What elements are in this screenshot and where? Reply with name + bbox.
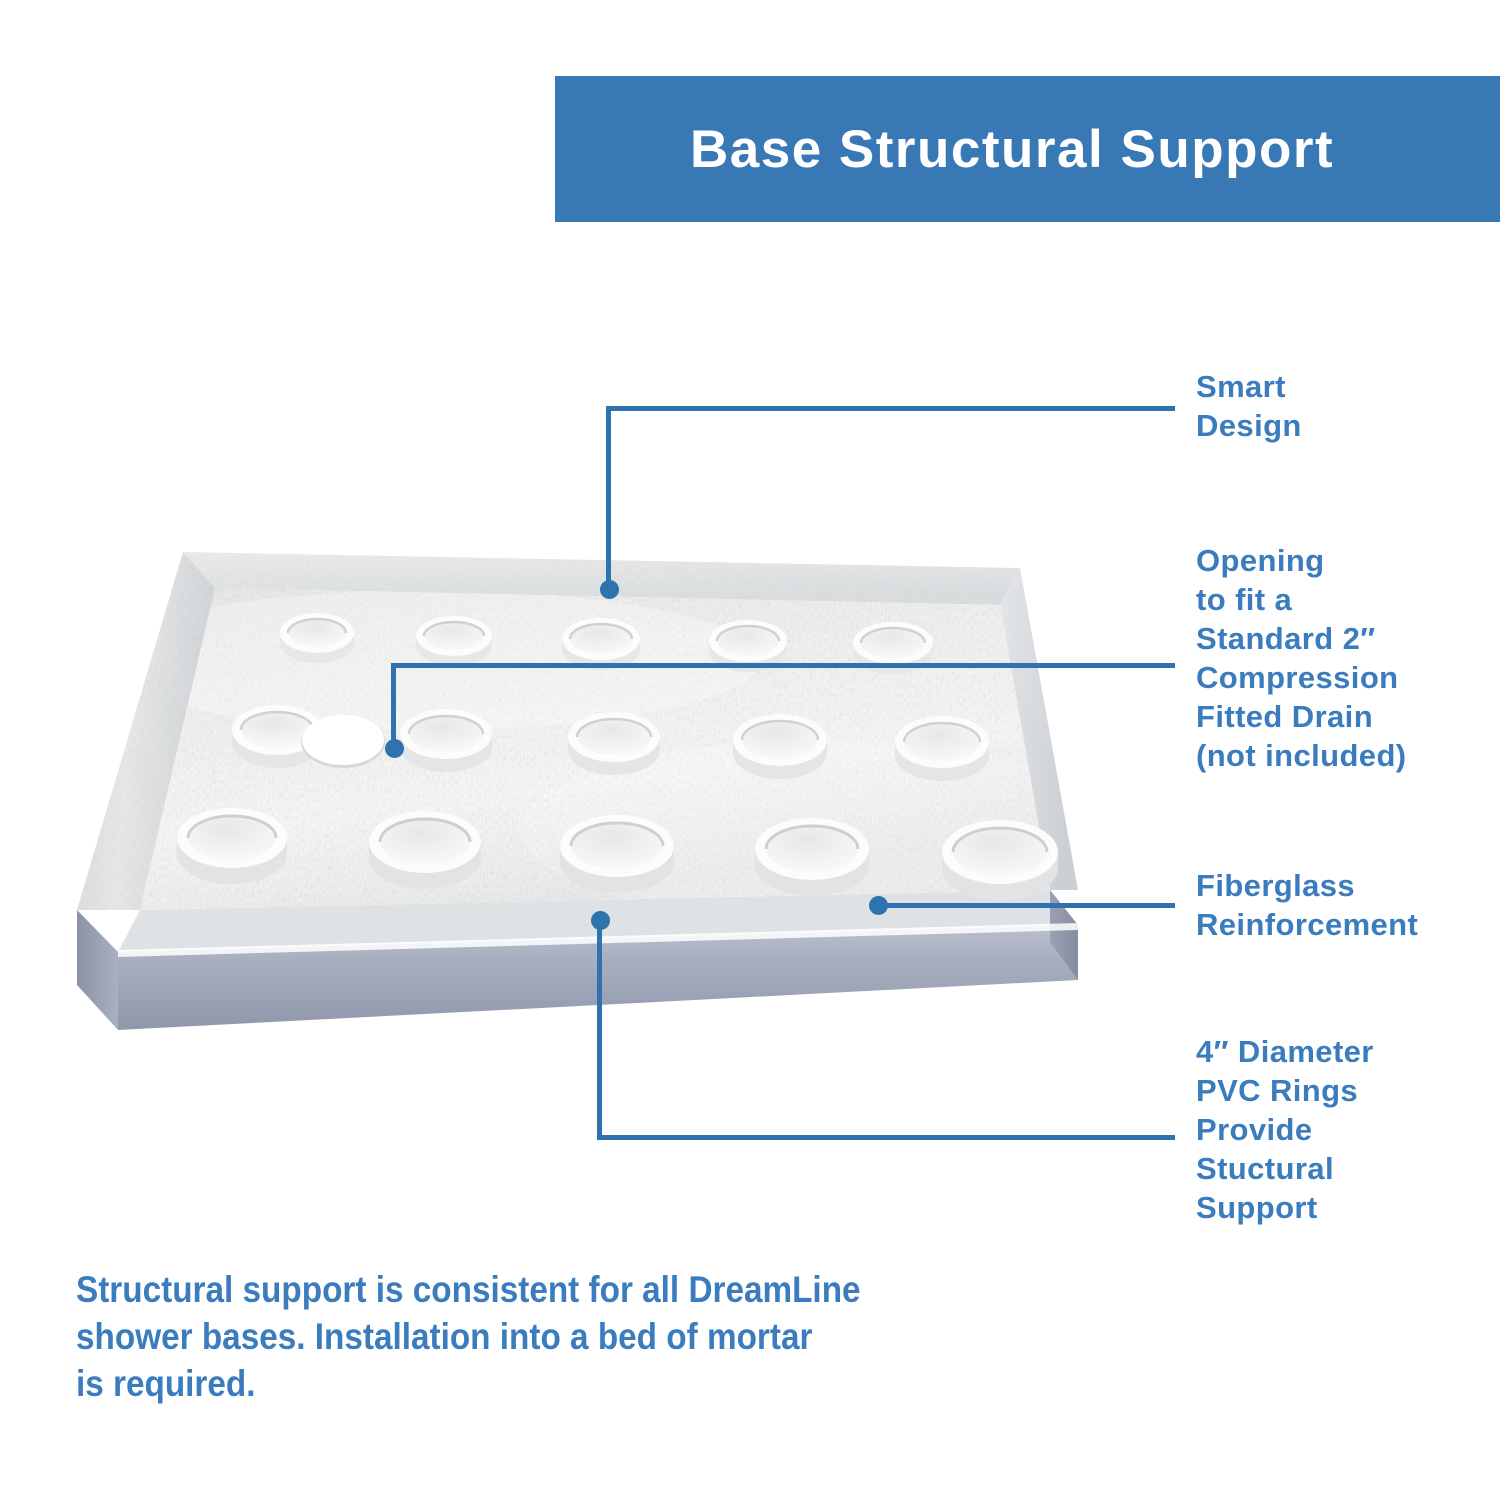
pvc-ring [895,716,989,781]
pvc-ring [755,818,869,896]
pvc-ring [942,820,1058,900]
callout-smart-design: Smart Design [1196,367,1302,445]
leader-line-pvc-horizontal [597,1135,1175,1140]
callout-line: Standard 2″ [1196,619,1407,658]
leader-dot-drain [385,739,404,758]
callout-pvc-rings: 4″ Diameter PVC Rings Provide Stuctural … [1196,1032,1374,1227]
pvc-ring [177,808,287,884]
leader-dot-smart-design [600,580,619,599]
callout-line: Compression [1196,658,1407,697]
pvc-ring [369,811,481,889]
leader-line-smart-design-vertical [606,408,611,592]
callout-line: Provide [1196,1110,1374,1149]
pvc-ring [280,613,354,663]
callout-line: Fitted Drain [1196,697,1407,736]
callout-line: Fiberglass [1196,866,1418,905]
pvc-ring [733,714,827,779]
callout-line: (not included) [1196,736,1407,775]
drain-opening [301,715,385,768]
callout-line: Stuctural [1196,1149,1374,1188]
footer-line: Structural support is consistent for all… [76,1266,904,1313]
page-title: Base Structural Support [690,119,1334,180]
footer-line: shower bases. Installation into a bed of… [76,1313,904,1360]
shower-base-image [0,330,1180,1030]
callout-line: Design [1196,406,1302,445]
callout-line: Reinforcement [1196,905,1418,944]
callout-line: 4″ Diameter [1196,1032,1374,1071]
callout-line: Smart [1196,367,1302,406]
leader-line-fiberglass-horizontal [878,903,1175,908]
callout-fiberglass: Fiberglass Reinforcement [1196,866,1418,944]
product-illustration [0,330,1180,1030]
pvc-ring [568,712,660,775]
leader-dot-fiberglass [869,896,888,915]
callout-line: Opening [1196,541,1407,580]
pvc-ring [416,616,492,666]
callout-line: PVC Rings [1196,1071,1374,1110]
header-banner: Base Structural Support [555,76,1500,222]
leader-line-smart-design-horizontal [606,406,1175,411]
leader-line-drain-horizontal [391,663,1175,668]
callout-drain-opening: Opening to fit a Standard 2″ Compression… [1196,541,1407,775]
pvc-ring [400,709,492,772]
pvc-ring [560,815,674,893]
footer-note: Structural support is consistent for all… [76,1266,904,1407]
footer-line: is required. [76,1360,904,1407]
callout-line: to fit a [1196,580,1407,619]
leader-dot-pvc [591,911,610,930]
leader-line-pvc-vertical [597,920,602,1139]
callout-line: Support [1196,1188,1374,1227]
